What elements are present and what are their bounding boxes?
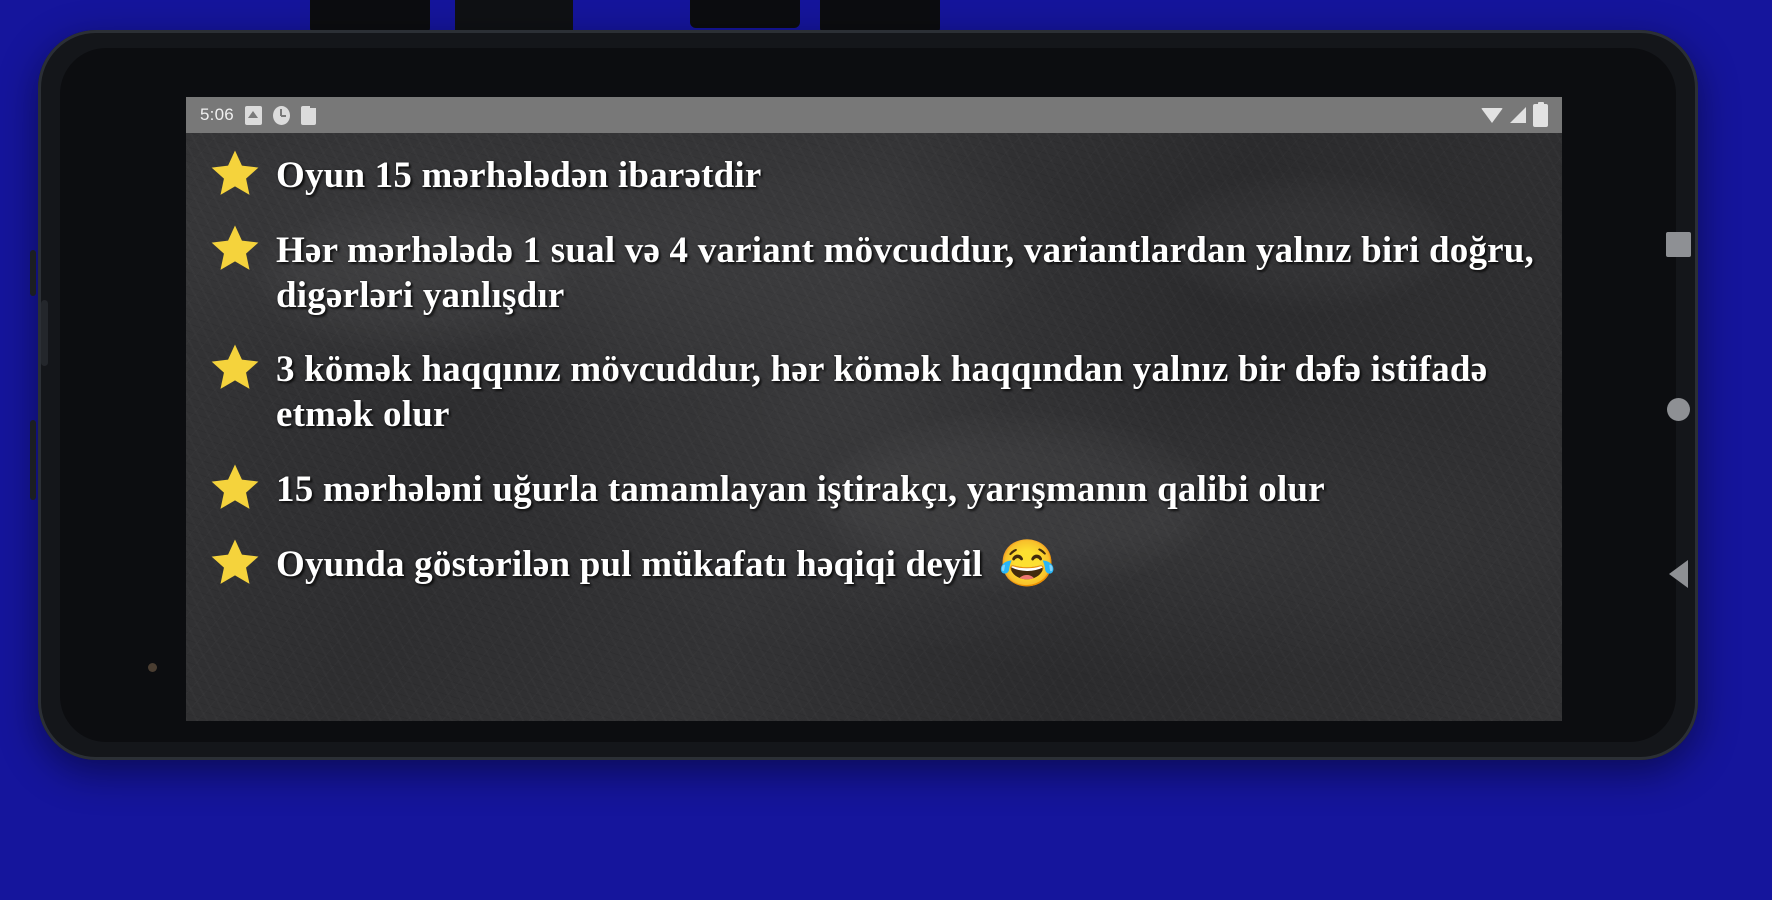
triangle-left-icon [1669, 560, 1688, 588]
volume-button[interactable] [30, 250, 36, 296]
star-icon [208, 341, 262, 393]
screen-corner-artifact [148, 663, 157, 672]
battery-saver-icon [301, 106, 316, 125]
star-icon [208, 461, 262, 513]
status-bar-left: 5:06 [200, 105, 316, 125]
rule-item: Oyunda göstərilən pul mükafatı həqiqi de… [208, 540, 1544, 588]
chrome-tab-1 [310, 0, 430, 34]
alarm-clock-icon [273, 106, 290, 125]
recents-button[interactable] [1661, 228, 1695, 262]
screenshot-root: 5:06 Oyun 15 mərhələdən ibarətdir [0, 0, 1772, 900]
sd-card-icon [245, 106, 262, 125]
wifi-icon [1481, 108, 1503, 123]
status-bar-clock: 5:06 [200, 105, 234, 125]
star-icon [208, 536, 262, 588]
star-icon [208, 222, 262, 274]
rules-list: Oyun 15 mərhələdən ibarətdir Hər mərhələ… [186, 133, 1562, 721]
cellular-signal-icon [1510, 107, 1526, 123]
rule-item: 15 mərhələni uğurla tamamlayan iştirakçı… [208, 465, 1544, 513]
rule-text: Oyun 15 mərhələdən ibarətdir [276, 151, 762, 198]
circle-icon [1667, 398, 1690, 421]
rule-item: Oyun 15 mərhələdən ibarətdir [208, 151, 1544, 199]
speaker-slot [41, 300, 48, 366]
power-button[interactable] [30, 420, 36, 500]
square-icon [1666, 232, 1691, 257]
star-icon [208, 147, 262, 199]
battery-icon [1533, 104, 1548, 127]
navigation-bar [1628, 97, 1728, 721]
rule-text: 15 mərhələni uğurla tamamlayan iştirakçı… [276, 465, 1325, 512]
chrome-tab-4 [820, 0, 940, 34]
home-button[interactable] [1661, 392, 1695, 426]
rule-text: 3 kömək haqqınız mövcuddur, hər kömək ha… [276, 345, 1544, 437]
back-button[interactable] [1661, 557, 1695, 591]
chrome-tab-3 [690, 0, 800, 28]
face-with-tears-of-joy-icon: 😂 [999, 541, 1056, 587]
rule-text: Hər mərhələdə 1 sual və 4 variant mövcud… [276, 226, 1544, 318]
phone-screen: 5:06 Oyun 15 mərhələdən ibarətdir [186, 97, 1562, 721]
rule-item: 3 kömək haqqınız mövcuddur, hər kömək ha… [208, 345, 1544, 437]
status-bar: 5:06 [186, 97, 1562, 133]
status-bar-right [1481, 104, 1548, 127]
rule-text: Oyunda göstərilən pul mükafatı həqiqi de… [276, 540, 983, 587]
rule-item: Hər mərhələdə 1 sual və 4 variant mövcud… [208, 226, 1544, 318]
